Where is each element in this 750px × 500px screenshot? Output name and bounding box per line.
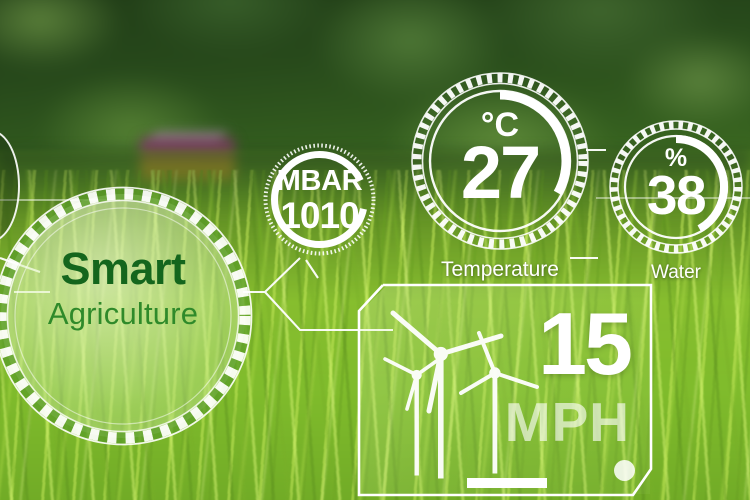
temperature-label: Temperature [441,258,559,282]
temperature-value: 27 [411,132,589,214]
water-label: Water [651,262,701,284]
wind-speed-unit: MPH [505,393,630,451]
wind-panel[interactable]: 15 MPH [357,283,653,497]
connector-pressure-stub [306,260,318,278]
gauge-temperature[interactable]: °C 27 Temperature [411,72,589,250]
hub-subtitle: Agriculture [0,295,258,333]
water-value: 38 [609,164,743,226]
wind-readout: 15 MPH [505,303,630,451]
hub-label-group: Smart Agriculture [0,243,258,333]
wind-panel-accent-bar [467,478,547,488]
wind-panel-status-dot[interactable] [614,460,635,481]
pressure-unit: MBAR [263,165,376,198]
gauge-water[interactable]: % 38 Water [609,120,743,254]
smart-agriculture-dashboard: Smart Agriculture MBAR 1010 °C 27 Temper… [0,0,750,500]
gauge-pressure[interactable]: MBAR 1010 [263,143,376,256]
smart-agriculture-hub[interactable]: Smart Agriculture [0,181,258,451]
pressure-value: 1010 [263,195,376,237]
wind-speed-value: 15 [505,303,630,385]
hub-title: Smart [0,243,258,295]
